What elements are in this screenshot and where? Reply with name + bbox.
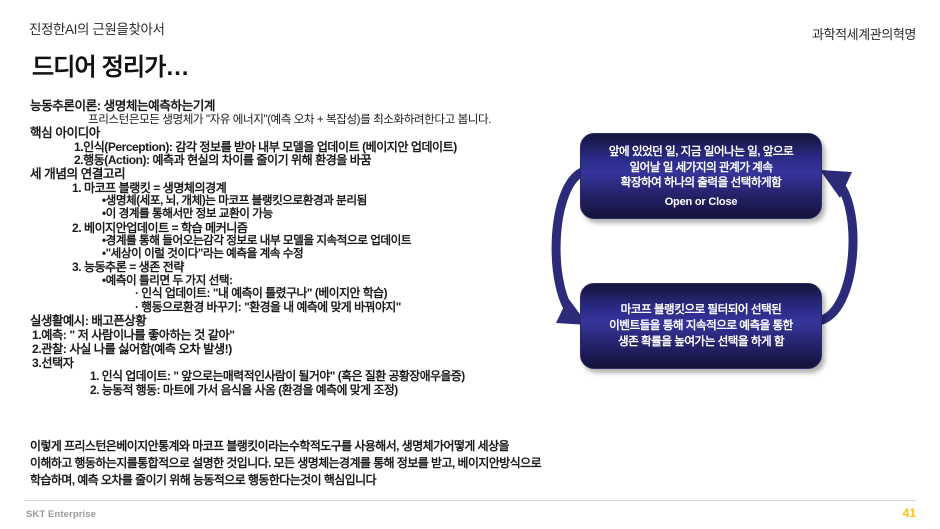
footer-divider: [24, 500, 916, 501]
callout-box-upper: 앞에 있었던 일, 지금 일어나는 일, 앞으로 일어날 일 세가지의 관계가 …: [580, 133, 822, 219]
arrow-up-right-icon: [820, 170, 853, 320]
outline-line-s1-note: 프리스턴은모든 생명체가 "자유 에너지"(예측 오차 + 복잡성)를 최소화하…: [30, 114, 590, 126]
outline-line-s4-i3a: 1. 인식 업데이트: " 앞으로는매력적인사람이 될거야" (혹은 질환 공황…: [30, 371, 590, 383]
outline-line-s3-i1b1: •생명체(세포, 뇌, 개체)는 마코프 블랭킷으로환경과 분리됨: [30, 195, 590, 207]
outline-line-s4-i1: 1.예측: " 저 사람이나를 좋아하는 것 같아": [30, 329, 590, 341]
closing-paragraph: 이렇게 프리스턴은베이지안통계와 마코프 블랭킷이라는수학적도구를 사용해서, …: [30, 438, 670, 489]
callout-upper-line-2: 일어날 일 세가지의 관계가 계속: [629, 160, 772, 176]
outline-line-s2-i2: 2.행동(Action): 예측과 현실의 차이를 줄이기 위해 환경을 바꿈: [30, 154, 590, 166]
closing-line-3: 학습하며, 예측 오차를 줄이기 위해 능동적으로 행동한다는것이 핵심입니다: [30, 472, 670, 489]
slide-canvas: 진정한AI의 근원을찾아서 과학적세계관의혁명 드디어 정리가… 능동추론이론:…: [0, 0, 940, 529]
outline-line-s3-i2b2: •"세상이 이럴 것이다"라는 예측을 계속 수정: [30, 248, 590, 260]
outline-line-s3-i1b2: •이 경계를 통해서만 정보 교환이 가능: [30, 208, 590, 220]
callout-upper-line-3: 확장하여 하나의 출력을 선택하게함: [621, 175, 782, 191]
slide-eyebrow-left: 진정한AI의 근원을찾아서: [29, 18, 165, 38]
callout-upper-line-1: 앞에 있었던 일, 지금 일어나는 일, 앞으로: [609, 144, 793, 160]
callout-lower-line-2: 이벤트들을 통해 지속적으로 예측을 통한: [609, 318, 793, 334]
outline-line-s4-i3: 3.선택자: [30, 357, 590, 369]
footer-brand: SKT Enterprise: [26, 509, 96, 520]
outline-line-s3-i1: 1. 마코프 블랭킷 = 생명체의경계: [30, 182, 590, 194]
callout-box-lower: 마코프 블랭킷으로 필터되어 선택된 이벤트들을 통해 지속적으로 예측을 통한…: [580, 283, 822, 369]
closing-line-1: 이렇게 프리스턴은베이지안통계와 마코프 블랭킷이라는수학적도구를 사용해서, …: [30, 438, 670, 455]
outline-body: 능동추론이론: 생명체는예측하는기계프리스턴은모든 생명체가 "자유 에너지"(…: [30, 98, 590, 397]
outline-line-s3-i2b1: •경계를 통해 들어오는감각 정보로 내부 모델을 지속적으로 업데이트: [30, 235, 590, 247]
callout-lower-line-3: 생존 확률을 높여가는 선택을 하게 함: [618, 334, 784, 350]
closing-line-2: 이해하고 행동하는지를통합적으로 설명한 것입니다. 모든 생명체는경계를 통해…: [30, 455, 670, 472]
outline-line-s3-i2: 2. 베이지안업데이트 = 학습 메커니즘: [30, 222, 590, 234]
outline-line-s2-i1: 1.인식(Perception): 감각 정보를 받아 내부 모델을 업데이트 …: [30, 141, 590, 153]
cycle-diagram: 앞에 있었던 일, 지금 일어나는 일, 앞으로 일어날 일 세가지의 관계가 …: [548, 120, 928, 400]
outline-line-s2-head: 핵심 아이디아: [30, 127, 590, 140]
outline-line-s4-head: 실생활예시: 배고픈상황: [30, 315, 590, 327]
callout-lower-line-1: 마코프 블랭킷으로 필터되어 선택된: [621, 302, 782, 318]
page-title: 드디어 정리가…: [32, 47, 189, 82]
outline-line-s3-head: 세 개념의 연결고리: [30, 168, 590, 181]
outline-line-s1-head: 능동추론이론: 생명체는예측하는기계: [30, 100, 590, 113]
callout-upper-subtitle: Open or Close: [665, 196, 738, 208]
outline-line-s4-i2: 2.관찰: 사실 나를 싫어함(예측 오차 발생!): [30, 343, 590, 355]
outline-line-s3-i3b1: •예측이 틀리면 두 가지 선택:: [30, 275, 590, 287]
page-number: 41: [903, 506, 916, 520]
outline-line-s4-i3b: 2. 능동적 행동: 마트에 가서 음식을 사옴 (환경을 예측에 맞게 조정): [30, 385, 590, 397]
slide-eyebrow-right: 과학적세계관의혁명: [812, 24, 916, 43]
outline-line-s3-i3b1b: · 행동으로환경 바꾸기: "환경을 내 예측에 맞게 바꿔야지": [30, 302, 590, 314]
outline-line-s3-i3b1a: · 인식 업데이트: "내 예측이 틀렸구나" (베이지안 학습): [30, 288, 590, 300]
outline-line-s3-i3: 3. 능동추론 = 생존 전략: [30, 261, 590, 273]
